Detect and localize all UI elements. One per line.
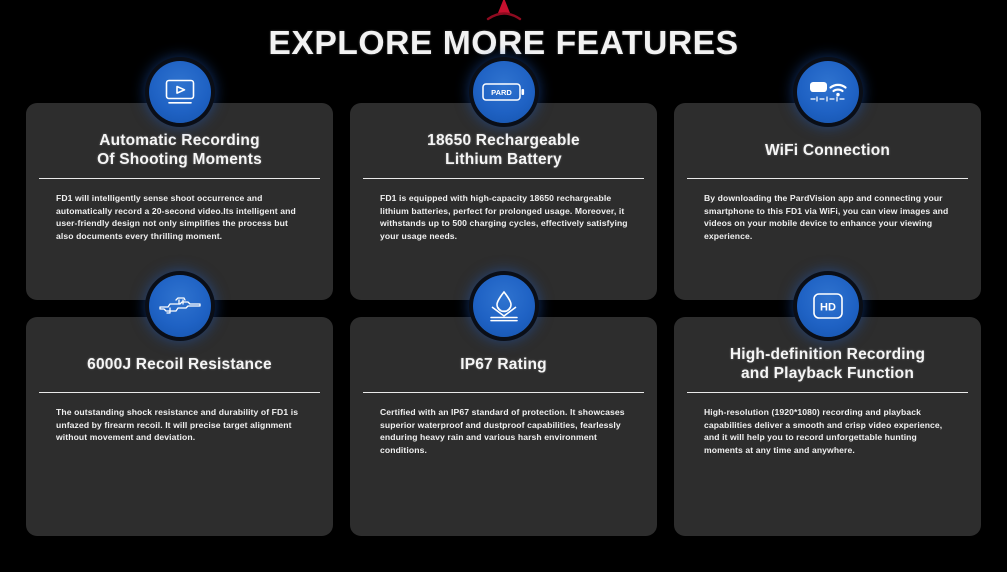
card-title: IP67 Rating bbox=[361, 345, 646, 383]
card-title-line: 6000J Recoil Resistance bbox=[37, 355, 322, 374]
card-divider bbox=[39, 392, 320, 393]
card-title-line: Lithium Battery bbox=[361, 150, 646, 169]
card-body-text: The outstanding shock resistance and dur… bbox=[37, 406, 322, 444]
card-divider bbox=[687, 392, 968, 393]
card-divider bbox=[687, 178, 968, 179]
rifle-icon-badge bbox=[149, 275, 211, 337]
play-monitor-icon bbox=[163, 77, 197, 107]
hd-label: HD bbox=[820, 301, 836, 313]
battery-brand-label: PARD bbox=[491, 88, 512, 97]
card-divider bbox=[39, 178, 320, 179]
brand-logo bbox=[0, 0, 1007, 22]
wifi-device-icon bbox=[808, 75, 848, 109]
card-title: 18650 Rechargeable Lithium Battery bbox=[361, 131, 646, 169]
card-title: 6000J Recoil Resistance bbox=[37, 345, 322, 383]
card-title: High-definition Recording and Playback F… bbox=[685, 345, 970, 383]
card-body-text: High-resolution (1920*1080) recording an… bbox=[685, 406, 970, 456]
card-title-line: WiFi Connection bbox=[685, 141, 970, 160]
feature-card-recoil-resistance[interactable]: 6000J Recoil Resistance The outstanding … bbox=[26, 317, 333, 536]
card-body-text: By downloading the PardVision app and co… bbox=[685, 192, 970, 242]
card-body-text: FD1 is equipped with high-capacity 18650… bbox=[361, 192, 646, 242]
card-title-line: Of Shooting Moments bbox=[37, 150, 322, 169]
page-title: EXPLORE MORE FEATURES bbox=[0, 24, 1007, 62]
card-title-line: Automatic Recording bbox=[37, 131, 322, 150]
waterproof-droplet-icon-badge bbox=[473, 275, 535, 337]
card-divider bbox=[363, 392, 644, 393]
card-title: WiFi Connection bbox=[685, 131, 970, 169]
hd-badge-icon-badge: HD bbox=[797, 275, 859, 337]
waterproof-droplet-icon bbox=[486, 289, 522, 323]
feature-card-rechargeable-battery[interactable]: PARD 18650 Rechargeable Lithium Battery … bbox=[350, 103, 657, 300]
wifi-device-icon-badge bbox=[797, 61, 859, 123]
card-body-text: FD1 will intelligently sense shoot occur… bbox=[37, 192, 322, 242]
hd-badge-icon: HD bbox=[812, 292, 844, 320]
feature-card-automatic-recording[interactable]: Automatic Recording Of Shooting Moments … bbox=[26, 103, 333, 300]
card-title-line: and Playback Function bbox=[685, 364, 970, 383]
card-title-line: High-definition Recording bbox=[685, 345, 970, 364]
card-title: Automatic Recording Of Shooting Moments bbox=[37, 131, 322, 169]
feature-card-wifi-connection[interactable]: WiFi Connection By downloading the PardV… bbox=[674, 103, 981, 300]
pard-peak-logo-icon bbox=[482, 0, 526, 22]
pard-battery-icon-badge: PARD bbox=[473, 61, 535, 123]
rifle-icon bbox=[158, 294, 202, 318]
card-title-line: IP67 Rating bbox=[361, 355, 646, 374]
card-body-text: Certified with an IP67 standard of prote… bbox=[361, 406, 646, 456]
feature-card-hd-recording[interactable]: HD High-definition Recording and Playbac… bbox=[674, 317, 981, 536]
card-title-line: 18650 Rechargeable bbox=[361, 131, 646, 150]
card-divider bbox=[363, 178, 644, 179]
feature-card-ip67-rating[interactable]: IP67 Rating Certified with an IP67 stand… bbox=[350, 317, 657, 536]
feature-card-grid: Automatic Recording Of Shooting Moments … bbox=[26, 103, 981, 536]
play-monitor-icon-badge bbox=[149, 61, 211, 123]
pard-battery-icon: PARD bbox=[482, 82, 526, 102]
